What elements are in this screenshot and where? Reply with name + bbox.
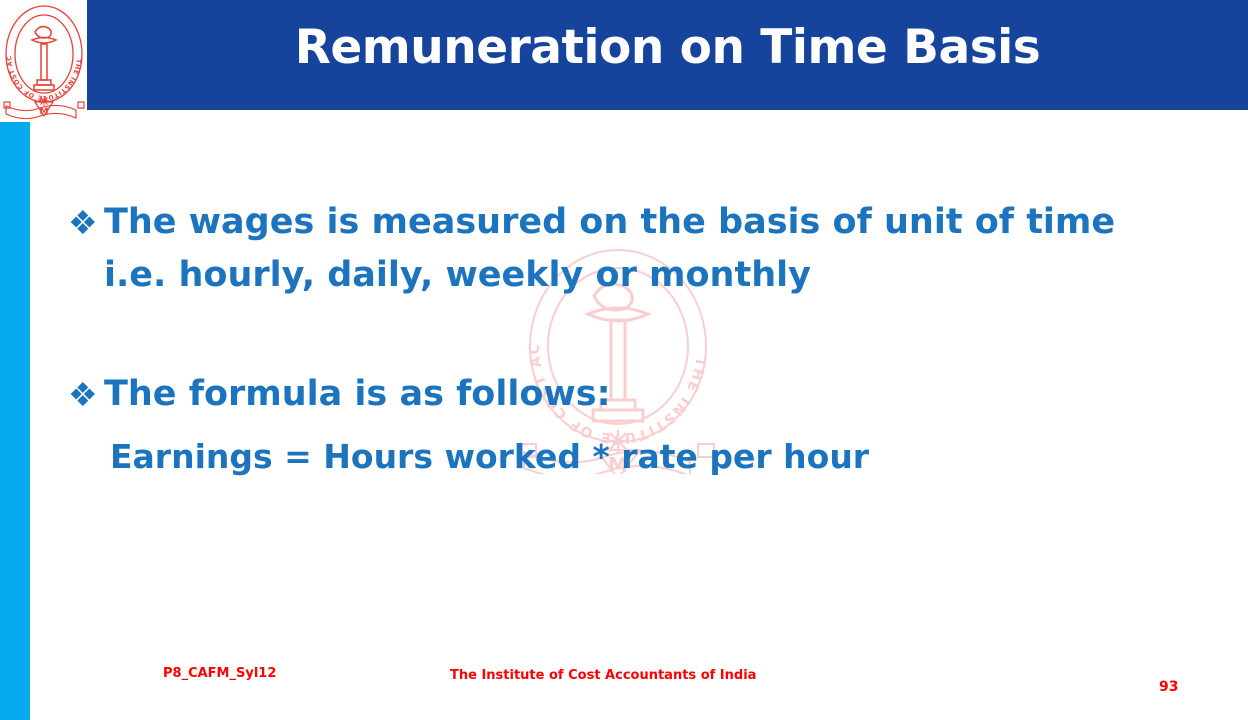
institute-logo-icon: THE INSTITUTE OF COST ACCOUNTANTS OF IND… — [2, 2, 86, 120]
left-accent-strip — [0, 122, 30, 720]
svg-text:M: M — [40, 107, 49, 117]
formula-line: Earnings = Hours worked * rate per hour — [110, 431, 1188, 483]
formula-spacer — [68, 421, 1188, 431]
page-number: 93 — [1159, 679, 1178, 695]
footer-paper-code: P8_CAFM_Syl12 — [163, 666, 276, 681]
svg-text:THE INSTITUTE OF COST ACCOUNTA: THE INSTITUTE OF COST ACCOUNTANTS OF IND… — [2, 2, 82, 101]
diamond-bullet-icon: ❖ — [68, 368, 104, 421]
title-bar: Remuneration on Time Basis — [87, 0, 1248, 110]
diamond-bullet-icon: ❖ — [68, 196, 104, 249]
footer-organisation: The Institute of Cost Accountants of Ind… — [450, 668, 756, 683]
page-title: Remuneration on Time Basis — [87, 20, 1248, 75]
bullet-text: The wages is measured on the basis of un… — [104, 196, 1169, 302]
bullet-spacer — [68, 302, 1188, 368]
bullet-text: The formula is as follows: — [104, 368, 1169, 421]
slide-body: ❖ The wages is measured on the basis of … — [68, 196, 1188, 483]
list-item: ❖ The wages is measured on the basis of … — [68, 196, 1188, 302]
slide-canvas: Remuneration on Time Basis THE INSTITUTE… — [0, 0, 1248, 720]
list-item: ❖ The formula is as follows: — [68, 368, 1188, 421]
